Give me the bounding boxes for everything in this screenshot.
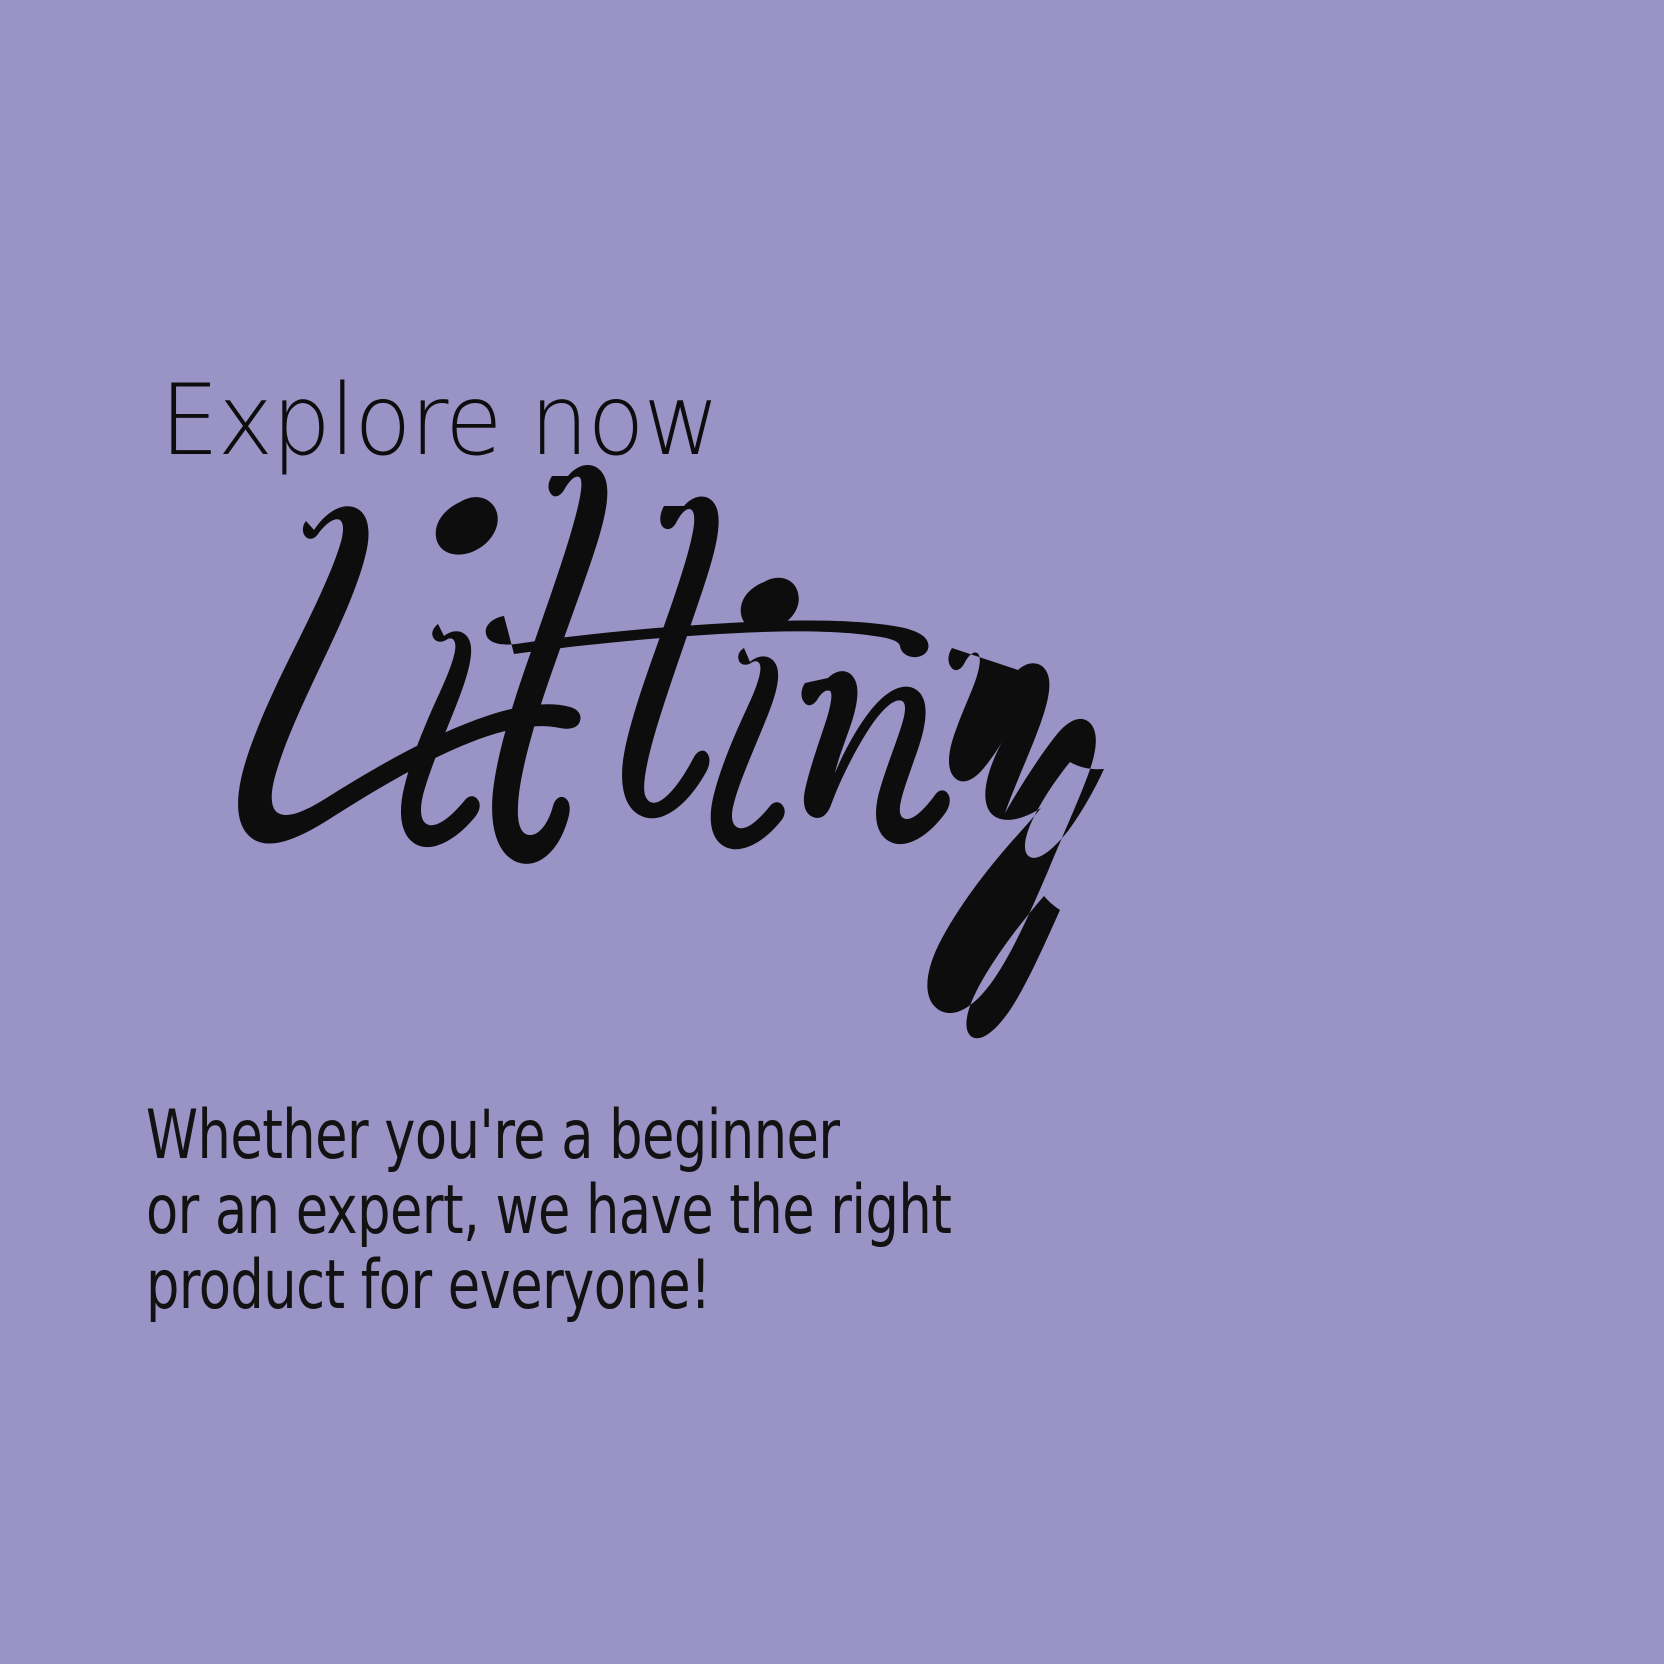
body-copy-line-2: or an expert, we have the right bbox=[146, 1173, 951, 1248]
promo-poster: Explore now Lifting bbox=[0, 0, 1664, 1664]
poster-eyebrow-text: Explore now bbox=[160, 372, 718, 470]
poster-body-copy: Whether you're a beginner or an expert, … bbox=[146, 1098, 951, 1323]
body-copy-line-1: Whether you're a beginner bbox=[146, 1098, 951, 1173]
poster-script-headline: Lifting bbox=[138, 466, 878, 836]
body-copy-line-3: product for everyone! bbox=[146, 1248, 951, 1323]
lifting-script-lettering-icon bbox=[138, 466, 878, 836]
